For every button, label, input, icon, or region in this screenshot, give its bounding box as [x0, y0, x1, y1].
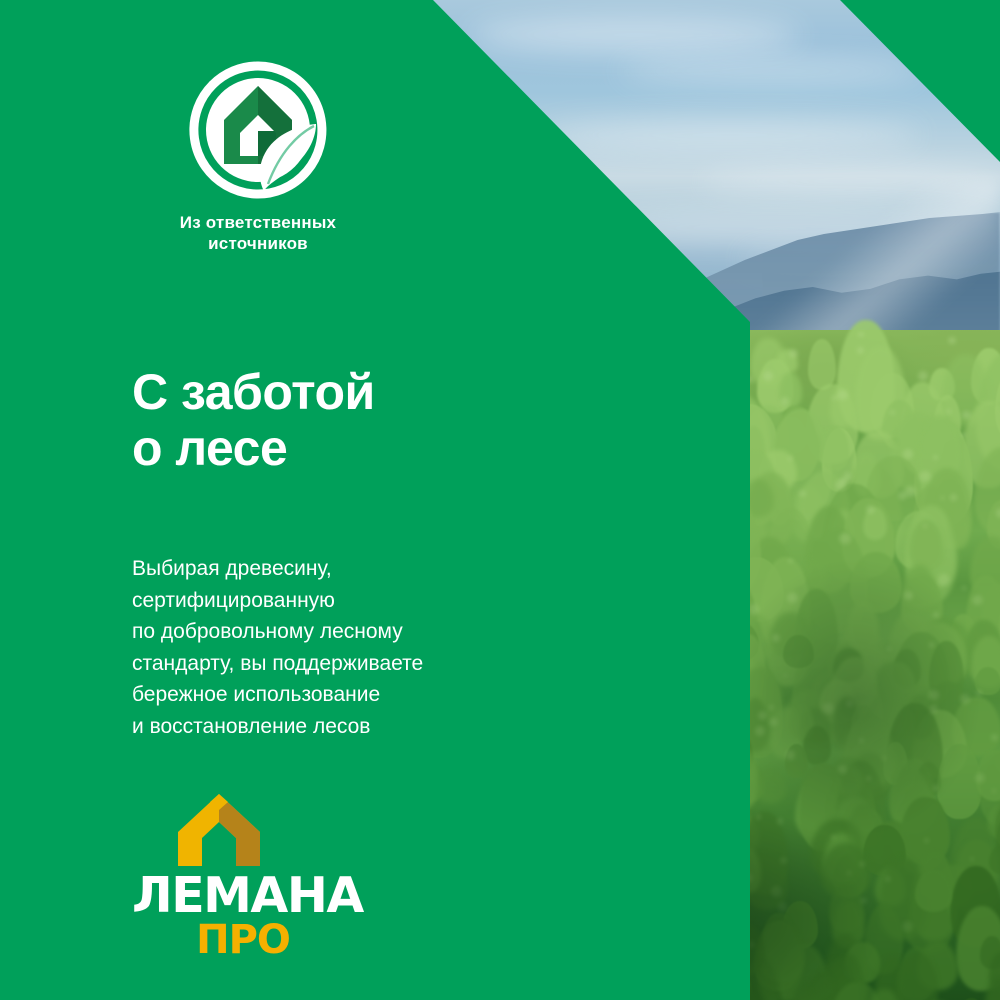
- content-layer: Из ответственных источников С заботой о …: [0, 0, 1000, 1000]
- brand-name: ЛЕМАНА: [132, 872, 322, 919]
- house-leaf-circle-icon: [188, 60, 328, 200]
- brand-lockup: ЛЕМАНА ПРО: [132, 792, 322, 960]
- page-title: С заботой о лесе: [132, 364, 375, 476]
- body-paragraph: Выбирая древесину, сертифицированную по …: [132, 553, 423, 742]
- certification-caption: Из ответственных источников: [128, 212, 388, 255]
- brand-subname: ПРО: [132, 920, 322, 960]
- lemana-house-icon: [176, 792, 262, 868]
- certification-mark: Из ответственных источников: [128, 60, 388, 255]
- poster-canvas: Из ответственных источников С заботой о …: [0, 0, 1000, 1000]
